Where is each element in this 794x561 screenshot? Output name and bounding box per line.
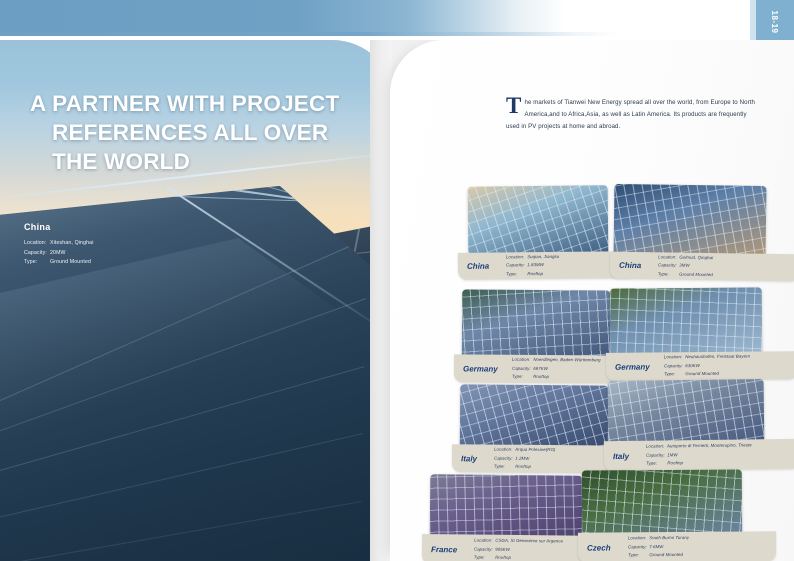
project-type-row: Type: Rooftop [646, 459, 752, 469]
project-details: Location: Autoporto di Fernetti, Monteru… [646, 442, 752, 468]
project-type-value: Rooftop [494, 555, 511, 560]
project-location-value: CSGA, St Genevieve sur Argence [494, 538, 563, 544]
project-type-row: Type: Ground Mounted [658, 270, 713, 279]
project-capacity-value: 7.6MW [648, 544, 663, 549]
project-type-label: Type: [494, 463, 514, 472]
project-country: Germany [454, 364, 512, 373]
panel-texture [610, 287, 763, 358]
project-type-value: Rooftop [514, 464, 531, 469]
project-type-label: Type: [512, 373, 532, 382]
panel-texture [460, 384, 609, 453]
project-type-label: Type: [646, 460, 666, 469]
project-type-row: Type: Ground Mounted [664, 370, 750, 379]
right-page: The markets of Tianwei New Energy spread… [370, 40, 794, 561]
feature-capacity-value: 20MW [50, 250, 66, 256]
project-country: Germany [606, 362, 664, 372]
page-title-line1: A PARTNER WITH PROJECT [30, 91, 339, 116]
feature-type-row: Type:Ground Mounted [24, 258, 224, 268]
project-card[interactable] [460, 384, 609, 453]
feature-country: China [24, 222, 224, 232]
project-caption: ItalyLocation: Autoporto di Fernetti, Mo… [604, 439, 794, 471]
project-type-value: Ground Mounted [648, 552, 683, 557]
feature-capacity-row: Capacity:20MW [24, 249, 224, 259]
intro-paragraph: The markets of Tianwei New Energy spread… [506, 97, 756, 133]
page-title-line2: REFERENCES ALL OVER THE WORLD [30, 119, 360, 177]
project-photo [468, 185, 609, 258]
project-country: Czech [578, 543, 628, 552]
project-photo [582, 469, 742, 540]
project-details: Location: Suqian, JiangsuCapacity: 1.83M… [506, 253, 560, 279]
page-title: A PARTNER WITH PROJECT REFERENCES ALL OV… [30, 90, 360, 176]
project-capacity-label: Capacity: [474, 545, 494, 554]
project-type-row: Type: Ground Mounted [628, 551, 689, 560]
project-type-row: Type: Rooftop [494, 463, 555, 472]
project-location-label: Location: [512, 356, 532, 365]
project-location-value: Neuhaushofen, Freistaat Bayern [684, 354, 750, 360]
project-details: Location: Neuhaushofen, Freistaat Bayern… [664, 353, 750, 379]
panel-texture [468, 185, 609, 258]
project-location-value: Suqian, Jiangsu [526, 254, 559, 259]
project-details: Location: Noerdlingen, Baden-Württemberg… [512, 356, 601, 382]
project-details: Location: South Burno TuranyCapacity: 7.… [628, 534, 689, 560]
project-type-value: Ground Mounted [678, 271, 713, 276]
project-photo [460, 384, 609, 453]
project-location-row: Location: Autoporto di Fernetti, Monteru… [646, 442, 752, 452]
project-caption: CzechLocation: South Burno TuranyCapacit… [578, 531, 776, 561]
project-card[interactable] [613, 184, 766, 262]
panel-texture [613, 184, 766, 262]
project-location-row: Location: Suqian, Jiangsu [506, 253, 559, 262]
project-location-label: Location: [664, 354, 684, 363]
project-capacity-label: Capacity: [658, 262, 678, 271]
project-type-label: Type: [628, 551, 648, 560]
project-photo [613, 184, 766, 262]
project-capacity-value: 1.83MW [526, 262, 544, 267]
project-country: Italy [604, 451, 646, 461]
page-number: 18-19 [753, 3, 794, 41]
project-location-row: Location: Neuhaushofen, Freistaat Bayern [664, 353, 750, 362]
project-location-value: Noerdlingen, Baden-Württemberg [532, 357, 601, 362]
project-location-label: Location: [506, 253, 526, 262]
page-gutter [370, 40, 392, 561]
project-capacity-value: 630KW [684, 363, 700, 368]
project-location-value: Arqua Polesine(RO) [514, 447, 555, 452]
project-capacity-value: 1.2MW [514, 456, 529, 461]
project-details: Location: Golmud, QinghaiCapacity: 3MWTy… [658, 253, 713, 279]
intro-text: he markets of Tianwei New Energy spread … [506, 99, 755, 130]
project-country: China [610, 261, 658, 271]
project-location-value: Golmud, Qinghai [678, 255, 713, 260]
project-type-value: Rooftop [526, 271, 543, 276]
project-type-row: Type: Rooftop [506, 270, 559, 279]
brochure-spread: 18-19 [0, 0, 794, 561]
header-band-inner [0, 0, 742, 32]
project-location-label: Location: [474, 537, 494, 546]
project-capacity-label: Capacity: [628, 543, 648, 552]
project-capacity-label: Capacity: [664, 362, 684, 371]
project-capacity-value: 687KW [532, 366, 548, 371]
project-card[interactable] [468, 185, 609, 258]
feature-location-label: Location: [24, 239, 50, 249]
project-type-label: Type: [664, 370, 684, 379]
project-country: France [422, 545, 474, 555]
project-details: Location: CSGA, St Genevieve sur Argence… [474, 537, 563, 561]
project-location-label: Location: [494, 446, 514, 455]
project-type-label: Type: [658, 270, 678, 279]
project-card[interactable] [582, 469, 742, 540]
project-country: China [458, 261, 506, 271]
project-capacity-value: 3MW [678, 263, 690, 268]
project-capacity-label: Capacity: [506, 262, 526, 271]
feature-project-caption: China Location:Xiteshan, Qinghai Capacit… [24, 222, 224, 268]
project-capacity-label: Capacity: [494, 454, 514, 463]
feature-capacity-label: Capacity: [24, 249, 50, 259]
project-location-row: Location: South Burno Turany [628, 534, 689, 543]
project-photo [610, 287, 763, 358]
project-location-value: Autoporto di Fernetti, Monterupino, Trie… [666, 443, 752, 449]
project-location-value: South Burno Turany [648, 535, 689, 540]
project-capacity-value: 905KW [494, 547, 510, 552]
project-location-label: Location: [658, 253, 678, 262]
project-country: Italy [452, 454, 494, 463]
feature-type-label: Type: [24, 258, 50, 268]
project-capacity-label: Capacity: [646, 451, 666, 460]
panel-texture [582, 469, 742, 540]
project-type-row: Type: Rooftop [512, 373, 601, 382]
intro-dropcap: T [506, 97, 521, 116]
panel-texture [462, 289, 610, 360]
left-page: A PARTNER WITH PROJECT REFERENCES ALL OV… [0, 40, 392, 561]
project-capacity-value: 1MW [666, 452, 678, 457]
feature-location-row: Location:Xiteshan, Qinghai [24, 239, 224, 249]
project-card[interactable] [610, 287, 763, 358]
project-caption: ChinaLocation: Golmud, QinghaiCapacity: … [610, 252, 794, 282]
project-details: Location: Arqua Polesine(RO)Capacity: 1.… [494, 446, 556, 472]
project-type-label: Type: [474, 554, 494, 561]
project-location-label: Location: [646, 443, 666, 452]
feature-type-value: Ground Mounted [50, 259, 91, 265]
project-card[interactable] [462, 289, 610, 360]
project-type-value: Rooftop [666, 460, 683, 465]
project-type-value: Rooftop [532, 374, 549, 379]
feature-location-value: Xiteshan, Qinghai [50, 240, 94, 246]
project-type-row: Type: Rooftop [474, 554, 563, 561]
project-type-value: Ground Mounted [684, 371, 719, 376]
project-type-label: Type: [506, 270, 526, 279]
project-caption: GermanyLocation: Neuhaushofen, Freistaat… [606, 351, 794, 381]
project-photo [462, 289, 610, 360]
project-location-label: Location: [628, 535, 648, 544]
project-capacity-label: Capacity: [512, 365, 532, 374]
